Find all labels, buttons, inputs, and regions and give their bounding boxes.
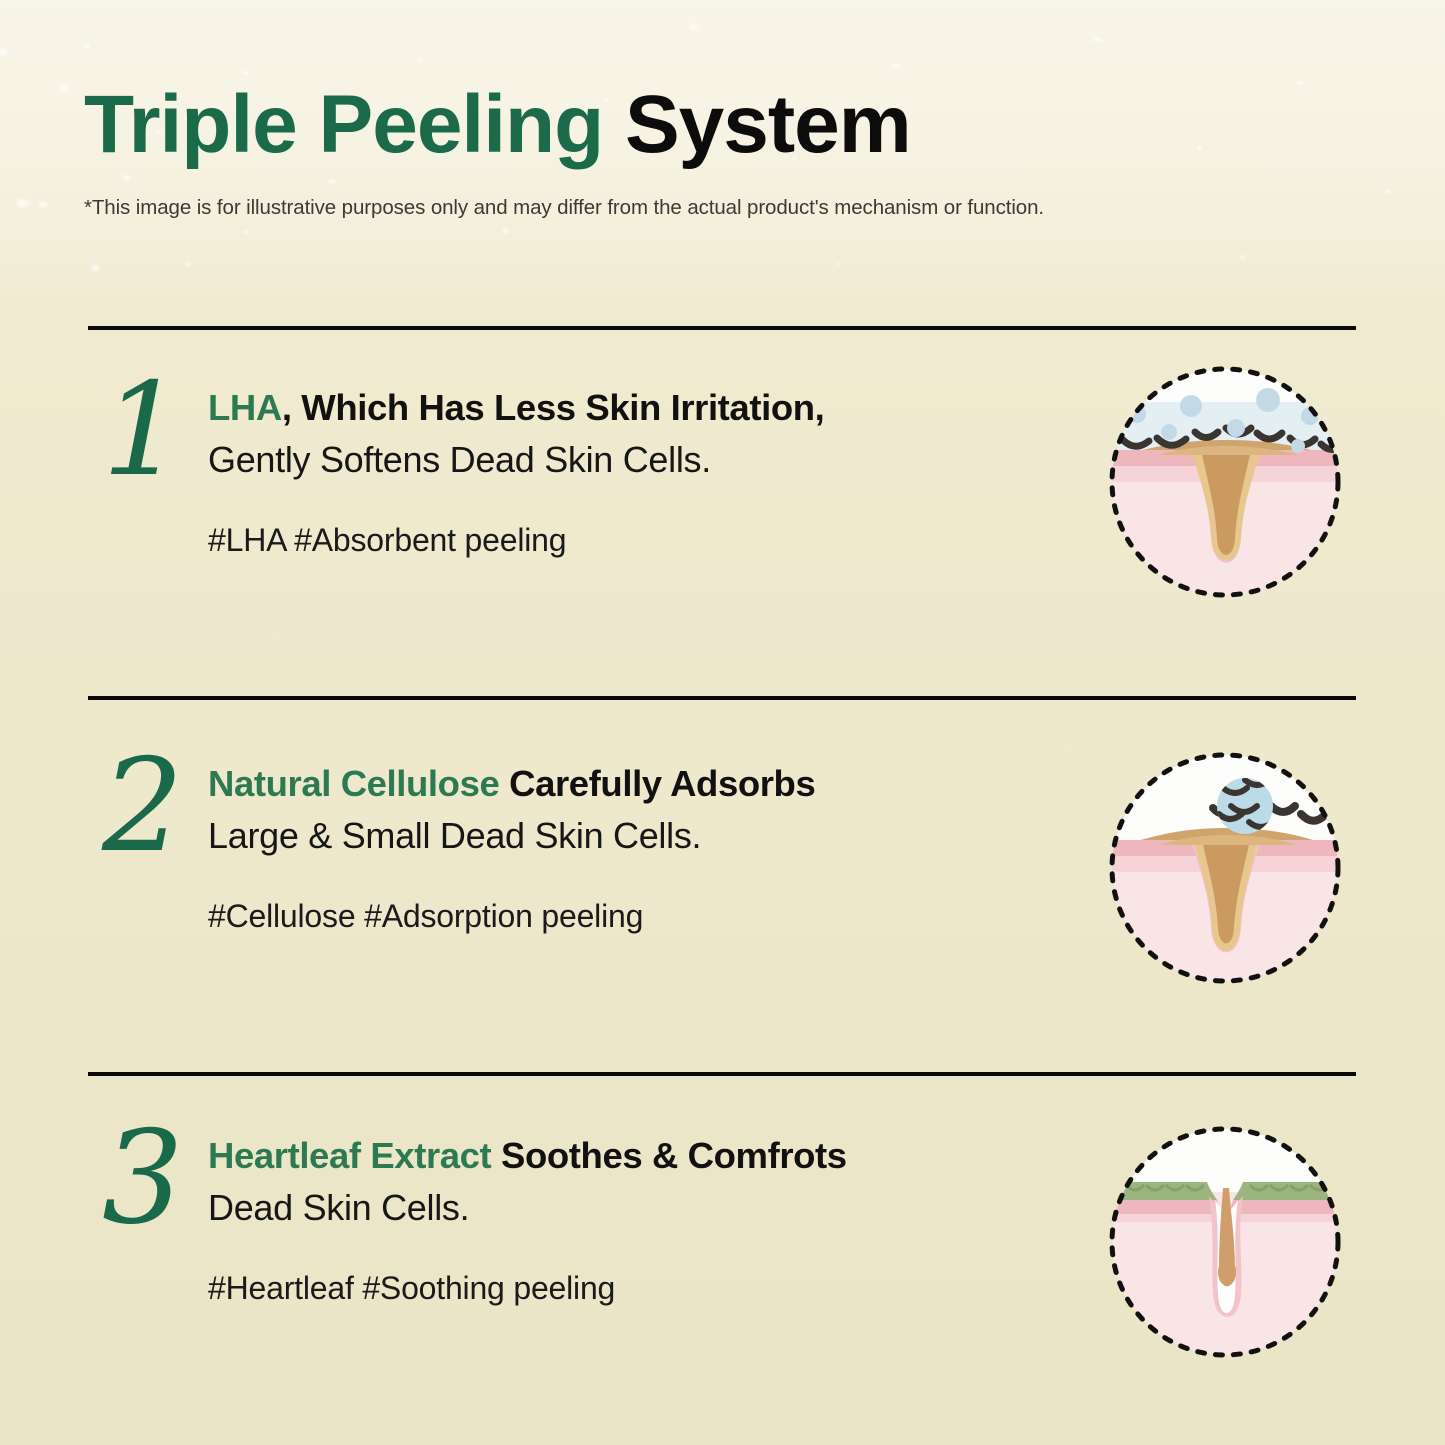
illustration-1 — [1105, 362, 1345, 602]
divider-line-1 — [88, 326, 1356, 330]
section-2-headline-accent: Natural Cellulose — [208, 763, 499, 804]
skin-cross-section-cellulose-sphere-icon — [1105, 748, 1345, 988]
section-3-headline-accent: Heartleaf Extract — [208, 1135, 491, 1176]
page-title: Triple Peeling System — [84, 84, 1364, 166]
section-1-numeral: 1 — [88, 372, 208, 490]
divider-line-2 — [88, 696, 1356, 700]
section-1-headline-rest: , Which Has Less Skin Irritation, — [282, 387, 825, 428]
page-title-black-part: System — [625, 79, 911, 170]
page-title-green-part: Triple Peeling — [84, 79, 625, 170]
section-2-numeral: 2 — [88, 748, 208, 866]
divider-line-3 — [88, 1072, 1356, 1076]
section-3-numeral: 3 — [88, 1120, 208, 1238]
skin-cross-section-heartleaf-clean-pore-icon — [1105, 1122, 1345, 1362]
header: Triple Peeling System *This image is for… — [84, 84, 1364, 220]
disclaimer-text: *This image is for illustrative purposes… — [84, 196, 1364, 220]
skin-cross-section-lha-bubbles-icon — [1105, 362, 1345, 602]
section-1-headline-accent: LHA — [208, 387, 282, 428]
section-3-headline-rest: Soothes & Comfrots — [491, 1135, 846, 1176]
illustration-3 — [1105, 1122, 1345, 1362]
infographic-page: Triple Peeling System *This image is for… — [0, 0, 1445, 1445]
illustration-2 — [1105, 748, 1345, 988]
section-2-headline-rest: Carefully Adsorbs — [499, 763, 815, 804]
